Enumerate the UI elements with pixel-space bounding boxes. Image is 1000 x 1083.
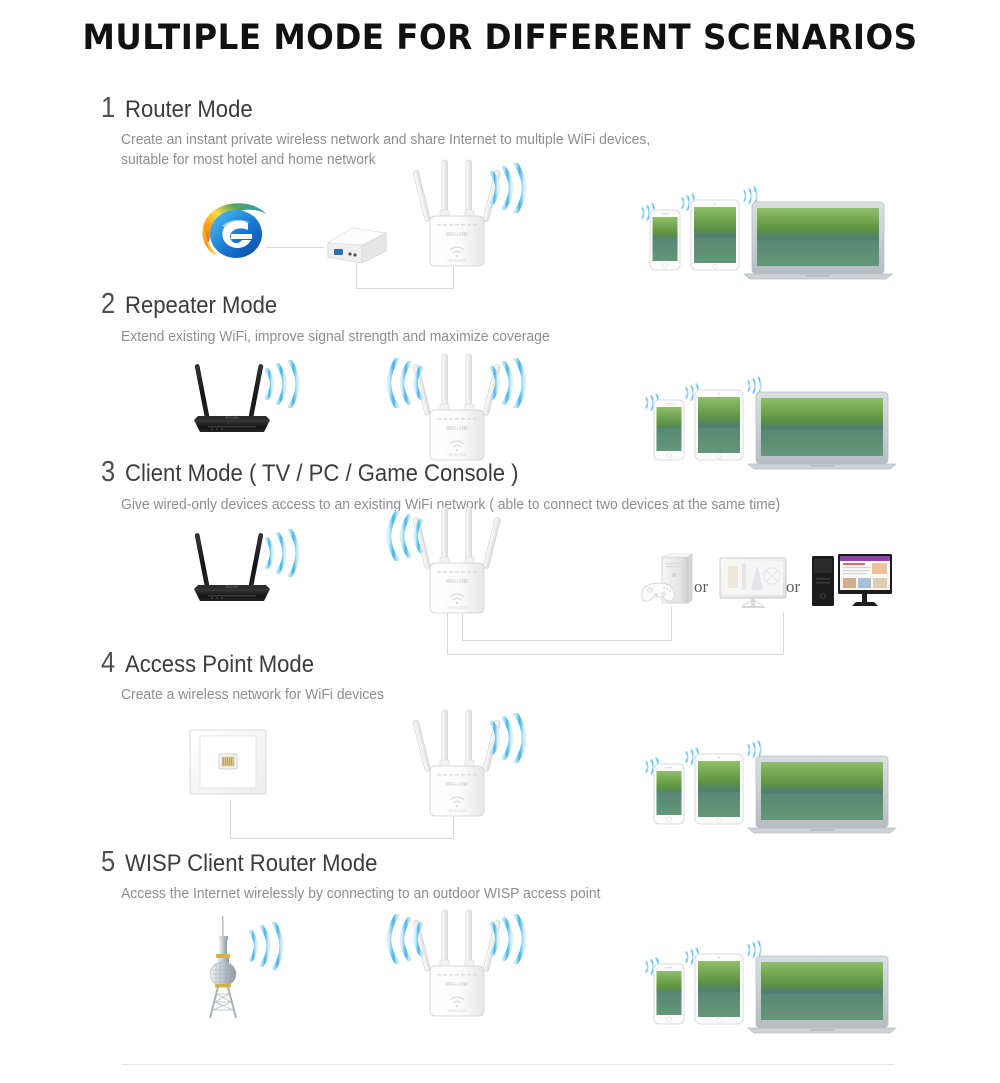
wifi-signal-icon: [262, 529, 304, 577]
cable-socket-to-repeater: [230, 838, 453, 839]
cable-repeater-to-console: [462, 640, 671, 641]
tablet: [695, 954, 743, 1024]
page-title: MULTIPLE MODE FOR DIFFERENT SCENARIOS: [35, 18, 965, 58]
section-title-4: Access Point Mode: [125, 651, 314, 679]
section-heading-2: 2 Repeater Mode: [100, 288, 291, 321]
cable-globe-to-modem: [266, 247, 324, 248]
svg-text:WiFi-LINK: WiFi-LINK: [446, 426, 469, 432]
infographic-page: MULTIPLE MODE FOR DIFFERENT SCENARIOS: [0, 0, 1000, 1083]
cable-console-down: [671, 607, 672, 641]
separator-or-1: or: [694, 577, 708, 597]
section-description-4: Create a wireless network for WiFi devic…: [121, 686, 812, 706]
svg-text:WiFi-LINK: WiFi-LINK: [446, 579, 469, 585]
laptop: [748, 956, 896, 1033]
client-devices-row-1: [636, 186, 898, 282]
section-description-5: Access the Internet wirelessly by connec…: [121, 885, 851, 905]
smartphone: [654, 964, 684, 1024]
laptop: [748, 756, 896, 833]
tablet: [695, 754, 743, 824]
cable-modem-to-repeater: [356, 288, 453, 289]
ethernet-wall-socket-icon: [188, 728, 272, 800]
tablet: [691, 200, 739, 270]
game-console-icon: [640, 553, 698, 609]
wifi-signal-icon: [486, 163, 530, 213]
svg-text:REPEATER: REPEATER: [447, 1009, 467, 1013]
svg-text:REPEATER: REPEATER: [447, 809, 467, 813]
cable-socket-down: [230, 800, 231, 838]
svg-text:WiFi-LINK: WiFi-LINK: [446, 782, 469, 788]
wifi-signal-icon-left: [383, 511, 427, 561]
section-title-2: Repeater Mode: [125, 292, 277, 320]
cable-repeater-down-3b: [462, 613, 463, 640]
cable-repeater-to-tv: [447, 654, 783, 655]
smartphone: [654, 764, 684, 824]
client-devices-row-2: [640, 376, 902, 472]
section-number-3: 3: [101, 456, 115, 489]
section-heading-4: 4 Access Point Mode: [100, 647, 331, 680]
section-number-5: 5: [101, 846, 115, 879]
cable-repeater-down-3a: [447, 613, 448, 654]
svg-text:D-Link: D-Link: [225, 415, 239, 420]
client-devices-row-4: [640, 740, 902, 836]
section-number-2: 2: [101, 288, 115, 321]
bottom-divider: [122, 1064, 894, 1065]
wifi-signal-icon: [246, 922, 288, 970]
section-title-3: Client Mode ( TV / PC / Game Console ): [125, 460, 519, 488]
section-number-1: 1: [101, 92, 115, 125]
laptop: [748, 392, 896, 469]
cable-tv-down: [783, 612, 784, 655]
internet-explorer-globe-icon: [196, 196, 274, 268]
cable-modem-down: [356, 262, 357, 288]
wifi-signal-icon: [486, 713, 530, 763]
section-heading-5: 5 WISP Client Router Mode: [100, 846, 399, 879]
svg-text:D-Link: D-Link: [225, 584, 239, 589]
wifi-signal-icon-right: [486, 914, 530, 964]
client-devices-row-5: [640, 940, 902, 1036]
section-number-4: 4: [101, 647, 115, 680]
cable-repeater-down-4: [453, 817, 454, 839]
tablet: [695, 390, 743, 460]
desktop-computer-icon: [810, 552, 894, 610]
wifi-signal-icon-left: [383, 358, 427, 408]
section-title-5: WISP Client Router Mode: [125, 850, 377, 878]
television-icon: [718, 556, 788, 612]
svg-text:REPEATER: REPEATER: [447, 259, 467, 263]
laptop: [744, 202, 892, 279]
wifi-signal-icon: [262, 360, 304, 408]
section-heading-1: 1 Router Mode: [100, 92, 264, 125]
wifi-signal-icon-right: [486, 358, 530, 408]
svg-text:REPEATER: REPEATER: [447, 606, 467, 610]
svg-text:WiFi-LINK: WiFi-LINK: [446, 232, 469, 238]
smartphone: [650, 210, 680, 270]
section-description-2: Extend existing WiFi, improve signal str…: [121, 328, 812, 348]
svg-text:WiFi-LINK: WiFi-LINK: [446, 982, 469, 988]
smartphone: [654, 400, 684, 460]
section-title-1: Router Mode: [125, 96, 253, 124]
section-heading-3: 3 Client Mode ( TV / PC / Game Console ): [100, 456, 553, 489]
modem-box: [322, 223, 392, 267]
separator-or-2: or: [786, 577, 800, 597]
wifi-signal-icon-left: [383, 914, 427, 964]
